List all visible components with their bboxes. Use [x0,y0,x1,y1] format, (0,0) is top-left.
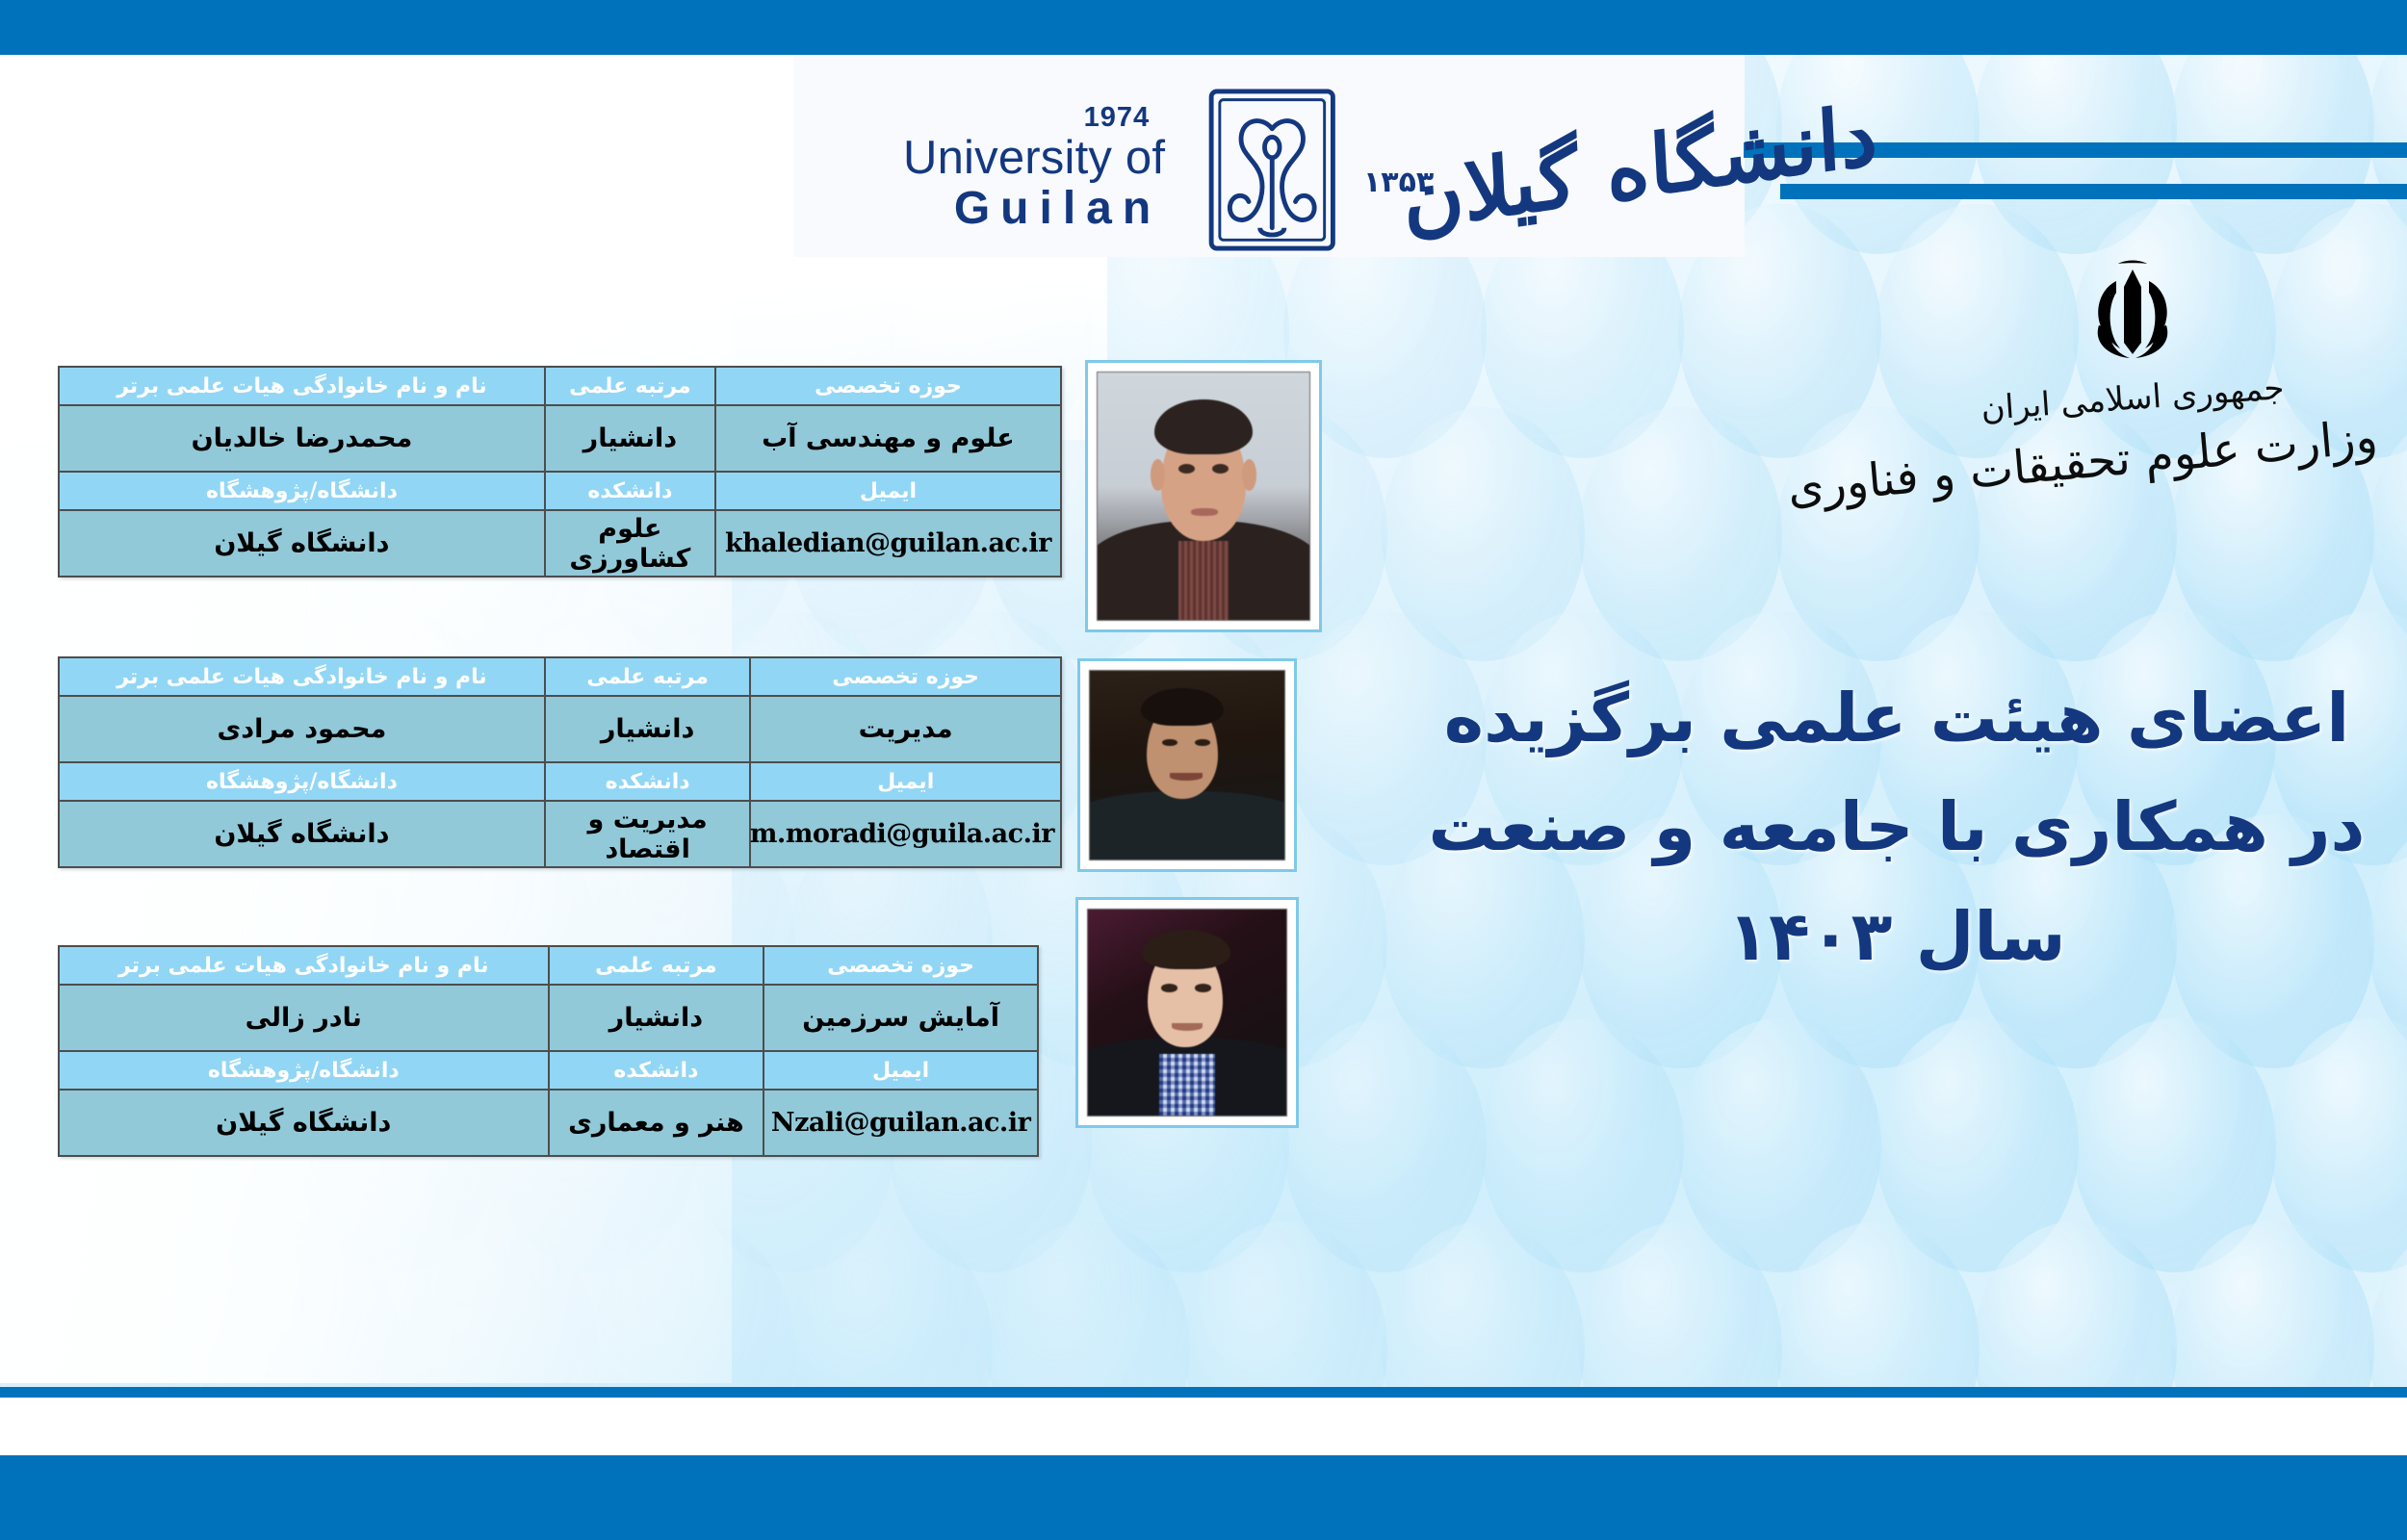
cell-field: آمایش سرزمین [764,985,1038,1051]
cell-faculty: مدیریت و اقتصاد [545,801,750,867]
iran-national-emblem-icon [2070,258,2195,372]
portrait-torso [1089,791,1285,860]
page-title-line-2: در همکاری با جامعه و صنعت [1386,773,2407,882]
portrait-photo-2 [1089,670,1285,860]
table-row: ایمیل دانشکده دانشگاه/پژوهشگاه [59,1051,1038,1090]
cell-name: نادر زالی [59,985,549,1051]
logo-guilan-word: Guilan [903,186,1165,232]
column-header-rank: مرتبه علمی [545,367,715,405]
table-row: آمایش سرزمین دانشیار نادر زالی [59,985,1038,1051]
cell-email: khaledian@guilan.ac.ir [715,510,1061,577]
table-row: ایمیل دانشکده دانشگاه/پژوهشگاه [59,762,1061,801]
portrait-shirt [1178,541,1229,620]
column-header-faculty: دانشکده [545,762,750,801]
cell-rank: دانشیار [549,985,764,1051]
column-header-email: ایمیل [715,472,1061,510]
column-header-name: نام و نام خانوادگی هیات علمی برتر [59,946,549,985]
column-header-faculty: دانشکده [545,472,715,510]
column-header-institution: دانشگاه/پژوهشگاه [59,472,545,510]
column-header-institution: دانشگاه/پژوهشگاه [59,762,545,801]
column-header-field: حوزه تخصصی [764,946,1038,985]
bottom-white-band [0,1398,2407,1455]
cell-faculty: هنر و معماری [549,1090,764,1156]
portrait-mouth [1191,508,1219,516]
decorative-stripe-lower [1780,184,2407,199]
cell-rank: دانشیار [545,405,715,472]
portrait-eye-right [1195,984,1210,992]
ministry-emblem-block: جمهوری اسلامی ایران وزارت علوم تحقیقات و… [1887,258,2378,576]
cell-field: مدیریت [750,696,1061,762]
cell-email: Nzali@guilan.ac.ir [764,1090,1038,1156]
person-table-2: حوزه تخصصی مرتبه علمی نام و نام خانوادگی… [58,656,1062,868]
avatar [1075,897,1299,1128]
cell-faculty: علوم کشاورزی [545,510,715,577]
table-row: khaledian@guilan.ac.ir علوم کشاورزی دانش… [59,510,1061,577]
column-header-email: ایمیل [764,1051,1038,1090]
column-header-field: حوزه تخصصی [715,367,1061,405]
portrait-hair [1142,930,1231,969]
background-ellipse [0,407,6,661]
university-of-guilan-logo: 1974 University of Guilan ۱۳۵۳ دانشگاه گ… [867,77,1695,236]
column-header-rank: مرتبه علمی [549,946,764,985]
page-title-line-3: سال ۱۴۰۳ [1386,883,2407,991]
cell-institution: دانشگاه گیلان [59,1090,549,1156]
poster-canvas: 1974 University of Guilan ۱۳۵۳ دانشگاه گ… [0,0,2407,1540]
column-header-name: نام و نام خانوادگی هیات علمی برتر [59,367,545,405]
cell-institution: دانشگاه گیلان [59,510,545,577]
table-row: Nzali@guilan.ac.ir هنر و معماری دانشگاه … [59,1090,1038,1156]
person-table-1: حوزه تخصصی مرتبه علمی نام و نام خانوادگی… [58,366,1062,577]
logo-founding-year-gregorian: 1974 [903,104,1165,132]
portrait-mouth [1170,773,1203,781]
portrait-hair [1154,399,1252,454]
column-header-email: ایمیل [750,762,1061,801]
background-ellipse [2073,1018,2276,1272]
portrait-ear-right [1242,459,1256,491]
logo-university-word: University of [903,135,1165,182]
cell-rank: دانشیار [545,696,750,762]
column-header-name: نام و نام خانوادگی هیات علمی برتر [59,657,545,696]
portrait-shirt [1159,1054,1215,1116]
table-row: m.moradi@guila.ac.ir مدیریت و اقتصاد دان… [59,801,1061,867]
background-ellipse [1876,1018,2079,1272]
table-row: حوزه تخصصی مرتبه علمی نام و نام خانوادگی… [59,946,1038,985]
column-header-field: حوزه تخصصی [750,657,1061,696]
cell-institution: دانشگاه گیلان [59,801,545,867]
portrait-photo-1 [1097,372,1310,621]
background-ellipse [2270,1018,2407,1272]
column-header-rank: مرتبه علمی [545,657,750,696]
logo-persian-name: دانشگاه گیلان [1401,87,1880,249]
logo-english-lockup: 1974 University of Guilan [903,104,1165,232]
background-ellipse [1283,1018,1487,1272]
column-header-faculty: دانشکده [549,1051,764,1090]
avatar [1077,658,1297,872]
table-row: ایمیل دانشکده دانشگاه/پژوهشگاه [59,472,1061,510]
avatar [1085,360,1322,632]
person-table-3: حوزه تخصصی مرتبه علمی نام و نام خانوادگی… [58,945,1039,1157]
background-ellipse [1382,407,1585,661]
page-title: اعضای هیئت علمی برگزیده در همکاری با جام… [1386,664,2407,991]
bottom-blue-bar [0,1455,2407,1540]
guilan-university-emblem-icon [1203,88,1358,251]
table-row: مدیریت دانشیار محمود مرادی [59,696,1061,762]
page-title-line-1: اعضای هیئت علمی برگزیده [1386,664,2407,773]
top-blue-bar [0,0,2407,55]
column-header-institution: دانشگاه/پژوهشگاه [59,1051,549,1090]
cell-name: محمدرضا خالدیان [59,405,545,472]
cell-name: محمود مرادی [59,696,545,762]
background-ellipse [0,814,6,1068]
cell-email: m.moradi@guila.ac.ir [750,801,1061,867]
portrait-photo-3 [1087,909,1287,1116]
table-row: حوزه تخصصی مرتبه علمی نام و نام خانوادگی… [59,657,1061,696]
cell-field: علوم و مهندسی آب [715,405,1061,472]
table-row: علوم و مهندسی آب دانشیار محمدرضا خالدیان [59,405,1061,472]
background-ellipse [1579,407,1782,661]
bottom-thin-blue-bar [0,1387,2407,1398]
portrait-eye-left [1161,984,1177,992]
table-row: حوزه تخصصی مرتبه علمی نام و نام خانوادگی… [59,367,1061,405]
portrait-hair [1141,688,1225,726]
background-ellipse [1481,1018,1684,1272]
background-ellipse [1678,1018,1881,1272]
